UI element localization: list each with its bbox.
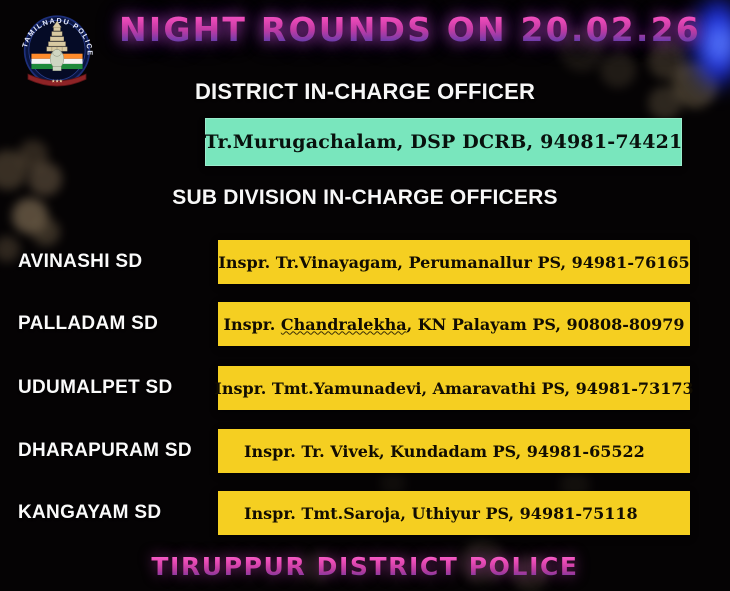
officer-box-dharapuram: Inspr. Tr. Vivek, Kundadam PS, 94981-655… [218, 429, 690, 473]
officer-box-udumalpet: Inspr. Tmt.Yamunadevi, Amaravathi PS, 94… [218, 366, 690, 410]
sub-division-row: KANGAYAM SD Inspr. Tmt.Saroja, Uthiyur P… [0, 491, 730, 535]
officer-text-udumalpet: Inspr. Tmt.Yamunadevi, Amaravathi PS, 94… [214, 379, 693, 398]
officer-box-kangayam: Inspr. Tmt.Saroja, Uthiyur PS, 94981-751… [218, 491, 690, 535]
officer-name-misspelled: Chandralekha [281, 315, 407, 334]
sub-division-label-dharapuram: DHARAPURAM SD [18, 429, 192, 473]
poster-title: NIGHT ROUNDS ON 20.02.26 [110, 10, 710, 49]
sub-division-label-palladam: PALLADAM SD [18, 302, 158, 346]
sub-division-row: PALLADAM SD Inspr. Chandralekha, KN Pala… [0, 302, 730, 346]
district-officer-box: Tr.Murugachalam, DSP DCRB, 94981-74421 [205, 118, 682, 166]
officer-text-dharapuram: Inspr. Tr. Vivek, Kundadam PS, 94981-655… [244, 442, 645, 461]
sub-division-label-kangayam: KANGAYAM SD [18, 491, 161, 535]
bokeh-circle [0, 150, 28, 190]
officer-text-kangayam: Inspr. Tmt.Saroja, Uthiyur PS, 94981-751… [244, 504, 638, 523]
officer-suffix: , KN Palayam PS, 90808-80979 [407, 315, 685, 334]
sub-division-incharge-heading: SUB DIVISION IN-CHARGE OFFICERS [0, 186, 730, 210]
night-rounds-poster: TAMILNADU POLICE [0, 0, 730, 591]
poster-footer: TIRUPPUR DISTRICT POLICE [0, 552, 730, 581]
officer-text-palladam: Inspr. Chandralekha, KN Palayam PS, 9080… [223, 315, 684, 334]
sub-division-label-udumalpet: UDUMALPET SD [18, 366, 173, 410]
district-incharge-heading: DISTRICT IN-CHARGE OFFICER [0, 79, 730, 105]
sub-division-row: UDUMALPET SD Inspr. Tmt.Yamunadevi, Amar… [0, 366, 730, 410]
bokeh-circle [18, 140, 48, 170]
sub-division-row: DHARAPURAM SD Inspr. Tr. Vivek, Kundadam… [0, 429, 730, 473]
officer-box-palladam: Inspr. Chandralekha, KN Palayam PS, 9080… [218, 302, 690, 346]
sub-division-label-avinashi: AVINASHI SD [18, 240, 142, 284]
officer-text-avinashi: Inspr. Tr.Vinayagam, Perumanallur PS, 94… [218, 253, 689, 272]
sub-division-row: AVINASHI SD Inspr. Tr.Vinayagam, Peruman… [0, 240, 730, 284]
officer-prefix: Inspr. [223, 315, 280, 334]
district-officer-text: Tr.Murugachalam, DSP DCRB, 94981-74421 [205, 131, 683, 153]
officer-box-avinashi: Inspr. Tr.Vinayagam, Perumanallur PS, 94… [218, 240, 690, 284]
